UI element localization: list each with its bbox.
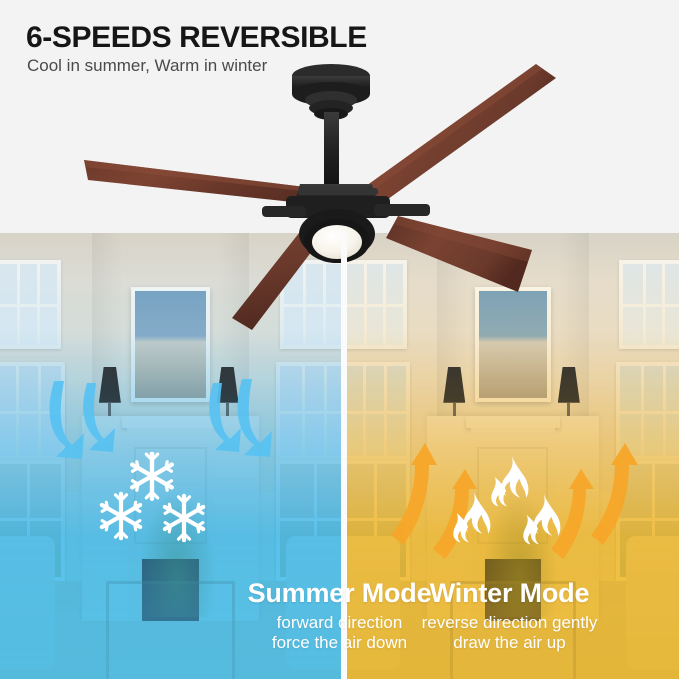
caption-winter: Winter Mode reverse direction gently dra… xyxy=(340,578,679,652)
winter-mode-line1: reverse direction gently xyxy=(340,613,679,633)
product-infographic: Summer Mode forward direction force the … xyxy=(0,0,679,679)
winter-mode-line2: draw the air up xyxy=(340,633,679,653)
page-subtitle: Cool in summer, Warm in winter xyxy=(27,56,267,76)
page-title: 6-SPEEDS REVERSIBLE xyxy=(26,21,367,55)
winter-mode-lines: reverse direction gently draw the air up xyxy=(340,613,679,652)
winter-mode-title: Winter Mode xyxy=(340,578,679,609)
header-band: 6-SPEEDS REVERSIBLE Cool in summer, Warm… xyxy=(0,0,679,233)
